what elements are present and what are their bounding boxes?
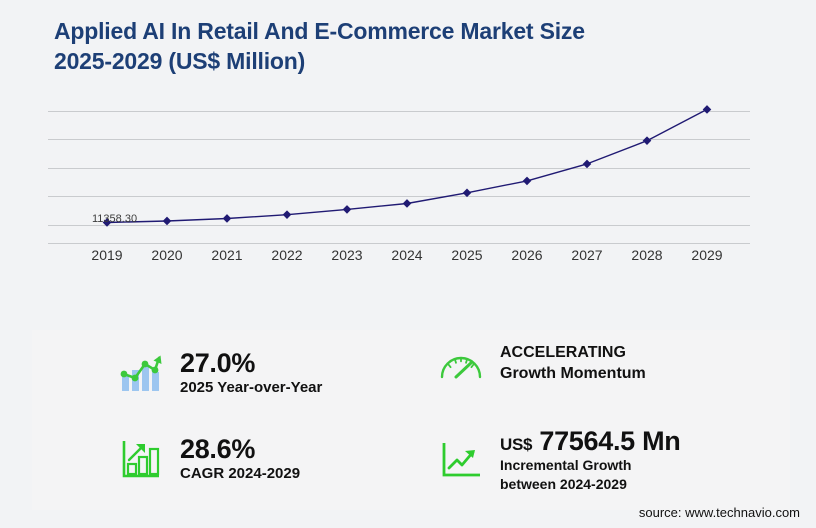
x-tick-2027: 2027: [571, 247, 602, 263]
stat-amount: 77564.5 Mn: [539, 426, 680, 456]
chart-plot-area: 11358.30: [48, 95, 750, 243]
stat-caption-line-2: between 2024-2029: [500, 475, 680, 493]
bar-line-growth-icon: [118, 351, 164, 395]
stat-growth-momentum: ACCELERATING Growth Momentum: [438, 342, 646, 386]
data-point-2027: [583, 160, 592, 169]
x-tick-2022: 2022: [271, 247, 302, 263]
title-line-1: Applied AI In Retail And E-Commerce Mark…: [54, 16, 694, 46]
x-axis-labels: 2019 2020 2021 2022 2023 2024 2025 2026 …: [48, 247, 750, 273]
stat-caption: 2025 Year-over-Year: [180, 378, 322, 398]
stat-value: US$ 77564.5 Mn: [500, 426, 680, 456]
x-tick-2028: 2028: [631, 247, 662, 263]
speedometer-icon: [438, 342, 484, 386]
x-tick-2021: 2021: [211, 247, 242, 263]
market-size-line-chart: 11358.30 2019 2020 2021 2022 2023 2024 2…: [0, 95, 816, 285]
data-point-2020: [163, 217, 172, 226]
stat-headline: ACCELERATING: [500, 343, 646, 364]
data-point-2024: [403, 199, 412, 208]
stat-text: 27.0% 2025 Year-over-Year: [180, 348, 322, 398]
stat-text: US$ 77564.5 Mn Incremental Growth betwee…: [500, 426, 680, 493]
stat-unit: US$: [500, 435, 532, 454]
x-tick-2026: 2026: [511, 247, 542, 263]
stat-caption: CAGR 2024-2029: [180, 464, 300, 484]
page-title: Applied AI In Retail And E-Commerce Mark…: [54, 16, 694, 77]
data-point-2025: [463, 189, 472, 198]
stat-caption-line-1: Incremental Growth: [500, 456, 680, 474]
stat-text: ACCELERATING Growth Momentum: [500, 343, 646, 385]
x-tick-2019: 2019: [91, 247, 122, 263]
stats-panel: 27.0% 2025 Year-over-Year: [32, 330, 790, 510]
data-point-2029: [703, 105, 712, 114]
data-point-label-2019: 11358.30: [92, 213, 137, 225]
x-tick-2029: 2029: [691, 247, 722, 263]
stat-value: 28.6%: [180, 434, 300, 464]
data-point-2028: [643, 136, 652, 145]
x-tick-2024: 2024: [391, 247, 422, 263]
trend-arrow-icon: [438, 438, 484, 482]
stat-cagr: 28.6% CAGR 2024-2029: [118, 434, 300, 484]
stat-year-over-year: 27.0% 2025 Year-over-Year: [118, 348, 322, 398]
cagr-bar-chart-icon: [118, 437, 164, 481]
source-note: source: www.technavio.com: [639, 505, 800, 520]
title-line-2: 2025-2029 (US$ Million): [54, 46, 694, 76]
axis-baseline: [48, 243, 750, 244]
x-tick-2023: 2023: [331, 247, 362, 263]
data-point-2022: [283, 210, 292, 219]
infographic-root: Applied AI In Retail And E-Commerce Mark…: [0, 0, 816, 528]
stat-incremental-growth: US$ 77564.5 Mn Incremental Growth betwee…: [438, 426, 680, 493]
stat-text: 28.6% CAGR 2024-2029: [180, 434, 300, 484]
stat-caption: Growth Momentum: [500, 364, 646, 385]
stat-value: 27.0%: [180, 348, 322, 378]
x-tick-2020: 2020: [151, 247, 182, 263]
data-point-2021: [223, 214, 232, 223]
data-point-2026: [523, 177, 532, 186]
x-tick-2025: 2025: [451, 247, 482, 263]
series-line: [48, 95, 750, 243]
data-point-2023: [343, 205, 352, 214]
